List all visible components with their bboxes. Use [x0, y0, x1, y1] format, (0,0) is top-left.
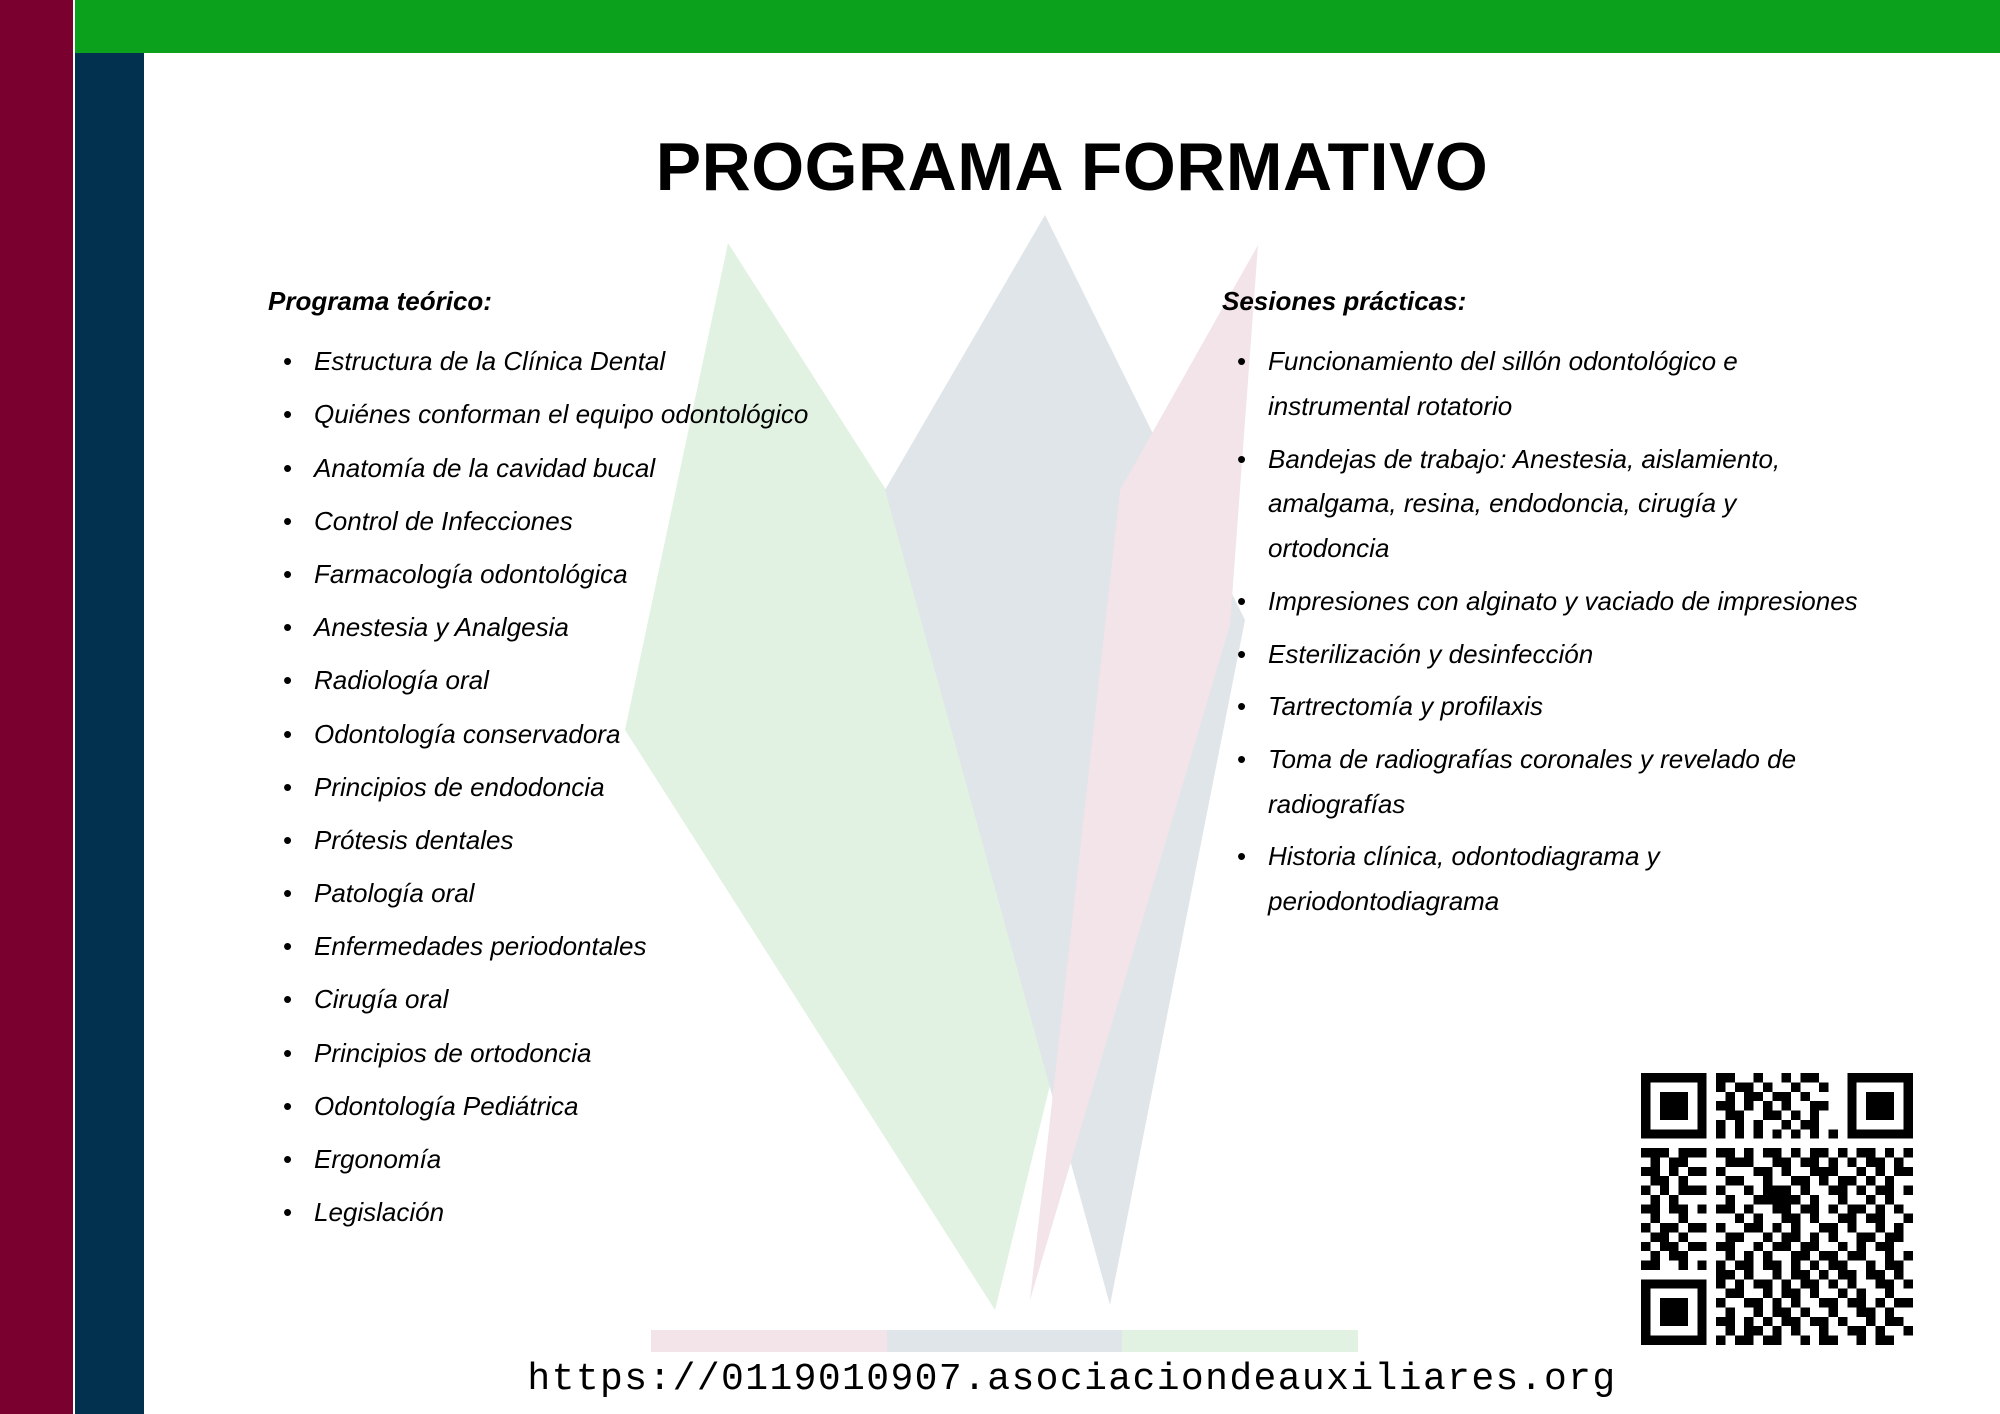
list-item: Funcionamiento del sillón odontológico e…: [1268, 339, 1862, 428]
list-item: Historia clínica, odontodiagrama y perio…: [1268, 834, 1862, 923]
list-item: Estructura de la Clínica Dental: [314, 339, 828, 383]
list-item: Ergonomía: [314, 1137, 828, 1181]
stripe-segment-pink: [651, 1330, 887, 1352]
list-item: Impresiones con alginato y vaciado de im…: [1268, 579, 1862, 624]
list-item: Control de Infecciones: [314, 499, 828, 543]
list-item: Legislación: [314, 1190, 828, 1234]
page-title: PROGRAMA FORMATIVO: [144, 128, 2000, 206]
list-item: Anatomía de la cavidad bucal: [314, 446, 828, 490]
footer-url-text[interactable]: https://0119010907.asociaciondeauxiliare…: [144, 1358, 2000, 1401]
list-item: Bandejas de trabajo: Anestesia, aislamie…: [1268, 437, 1862, 571]
kite-blue-shape: [885, 215, 1245, 1305]
list-item: Toma de radiografías coronales y revelad…: [1268, 737, 1862, 826]
left-navy-bar: [75, 53, 144, 1414]
top-green-bar: [75, 0, 2000, 53]
list-item: Odontología conservadora: [314, 712, 828, 756]
list-item: Quiénes conforman el equipo odontológico: [314, 392, 828, 436]
list-item: Esterilización y desinfección: [1268, 632, 1862, 677]
list-item: Patología oral: [314, 871, 828, 915]
list-item: Cirugía oral: [314, 977, 828, 1021]
stripe-segment-green: [1122, 1330, 1358, 1352]
left-maroon-bar: [0, 0, 73, 1414]
theory-program-heading: Programa teórico:: [268, 286, 828, 317]
list-item: Tartrectomía y profilaxis: [1268, 684, 1862, 729]
qr-code-icon[interactable]: [1641, 1073, 1913, 1345]
slide-canvas: PROGRAMA FORMATIVO Programa teórico: Est…: [0, 0, 2000, 1414]
footer-color-stripe: [651, 1330, 1358, 1352]
list-item: Principios de ortodoncia: [314, 1031, 828, 1075]
stripe-segment-blue: [887, 1330, 1123, 1352]
practical-sessions-heading: Sesiones prácticas:: [1222, 286, 1862, 317]
list-item: Farmacología odontológica: [314, 552, 828, 596]
practical-sessions-column: Sesiones prácticas: Funcionamiento del s…: [1222, 286, 1862, 932]
theory-program-list: Estructura de la Clínica Dental Quiénes …: [268, 339, 828, 1234]
list-item: Prótesis dentales: [314, 818, 828, 862]
list-item: Radiología oral: [314, 658, 828, 702]
list-item: Enfermedades periodontales: [314, 924, 828, 968]
list-item: Odontología Pediátrica: [314, 1084, 828, 1128]
theory-program-column: Programa teórico: Estructura de la Clíni…: [268, 286, 828, 1243]
practical-sessions-list: Funcionamiento del sillón odontológico e…: [1222, 339, 1862, 924]
list-item: Anestesia y Analgesia: [314, 605, 828, 649]
list-item: Principios de endodoncia: [314, 765, 828, 809]
